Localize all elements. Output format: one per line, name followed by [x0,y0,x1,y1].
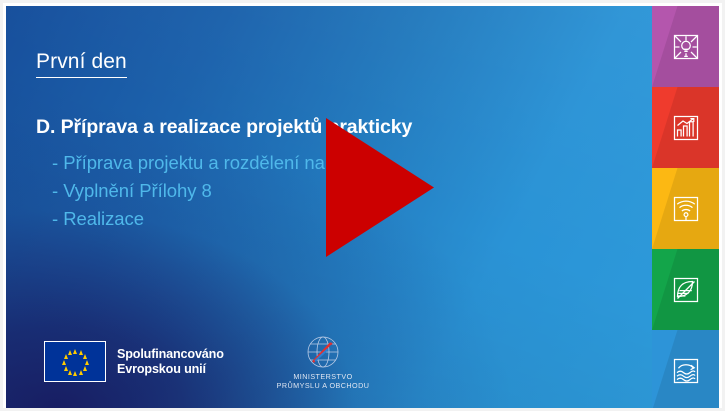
ministry-label-line2: PRŮMYSLU A OBCHODU [264,381,382,390]
eu-label-line2: Evropskou unií [117,362,224,377]
sidebar-icon-rail [652,6,719,411]
eu-star [64,366,68,371]
eu-flag-icon [44,341,106,382]
presentation-slide: První den D. Příprava a realizace projek… [0,0,725,411]
eu-star [68,370,72,375]
bar-chart-growth-icon [670,112,702,144]
play-button[interactable] [326,118,434,257]
leaf-icon [670,274,702,306]
lightbulb-icon [670,31,702,63]
eu-star [73,371,77,376]
wifi-signal-icon [670,193,702,225]
eu-cofunding-label: Spolufinancováno Evropskou unií [117,347,224,376]
play-triangle-icon [326,118,434,257]
eu-cofunding-logo: Spolufinancováno Evropskou unií [44,341,224,382]
water-waves-icon [670,355,702,387]
ministry-logo: MINISTERSTVO PRŮMYSLU A OBCHODU [264,335,382,390]
rail-tile-water[interactable] [652,330,719,411]
slide-heading: První den [36,50,127,78]
eu-star [68,350,72,355]
eu-star [83,366,87,371]
slide-footer: Spolufinancováno Evropskou unií [6,325,658,411]
eu-label-line1: Spolufinancováno [117,347,224,362]
ministry-label-line1: MINISTERSTVO [264,372,382,381]
eu-star [83,354,87,359]
rail-tile-wifi[interactable] [652,168,719,249]
eu-star [79,370,83,375]
rail-tile-leaf[interactable] [652,249,719,330]
eu-star [85,360,89,365]
rail-tile-lightbulb[interactable] [652,6,719,87]
eu-star [62,360,66,365]
ministry-globe-icon [295,335,351,369]
rail-tile-chart[interactable] [652,87,719,168]
eu-star [73,349,77,354]
slide-stage: První den D. Příprava a realizace projek… [6,6,658,411]
